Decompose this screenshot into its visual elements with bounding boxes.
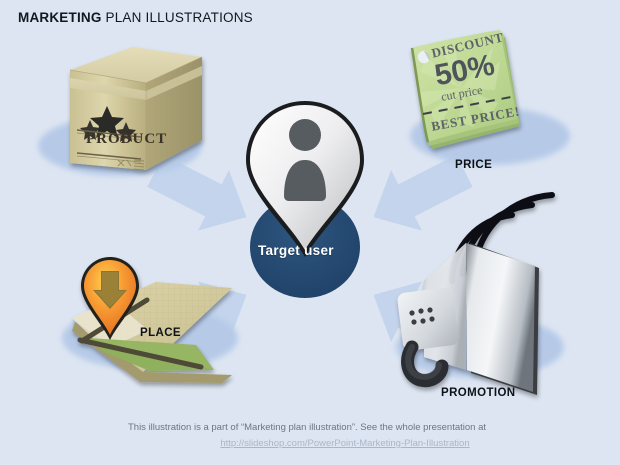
target-user-label: Target user	[258, 243, 334, 258]
place-caption: PLACE	[140, 327, 181, 339]
slide-canvas: MARKETING PLAN ILLUSTRATIONS	[0, 0, 620, 465]
footer-text: This illustration is a part of “Marketin…	[0, 422, 620, 433]
promotion-caption: PROMOTION	[441, 387, 516, 399]
illustration-artwork	[0, 0, 620, 465]
product-caption: PRODUCT	[86, 131, 167, 148]
target-user-node[interactable]	[246, 101, 364, 298]
megaphone-body	[397, 287, 460, 351]
footer: This illustration is a part of “Marketin…	[0, 422, 620, 451]
footer-link[interactable]: http://slideshop.com/PowerPoint-Marketin…	[150, 438, 469, 449]
price-caption: PRICE	[455, 159, 492, 171]
